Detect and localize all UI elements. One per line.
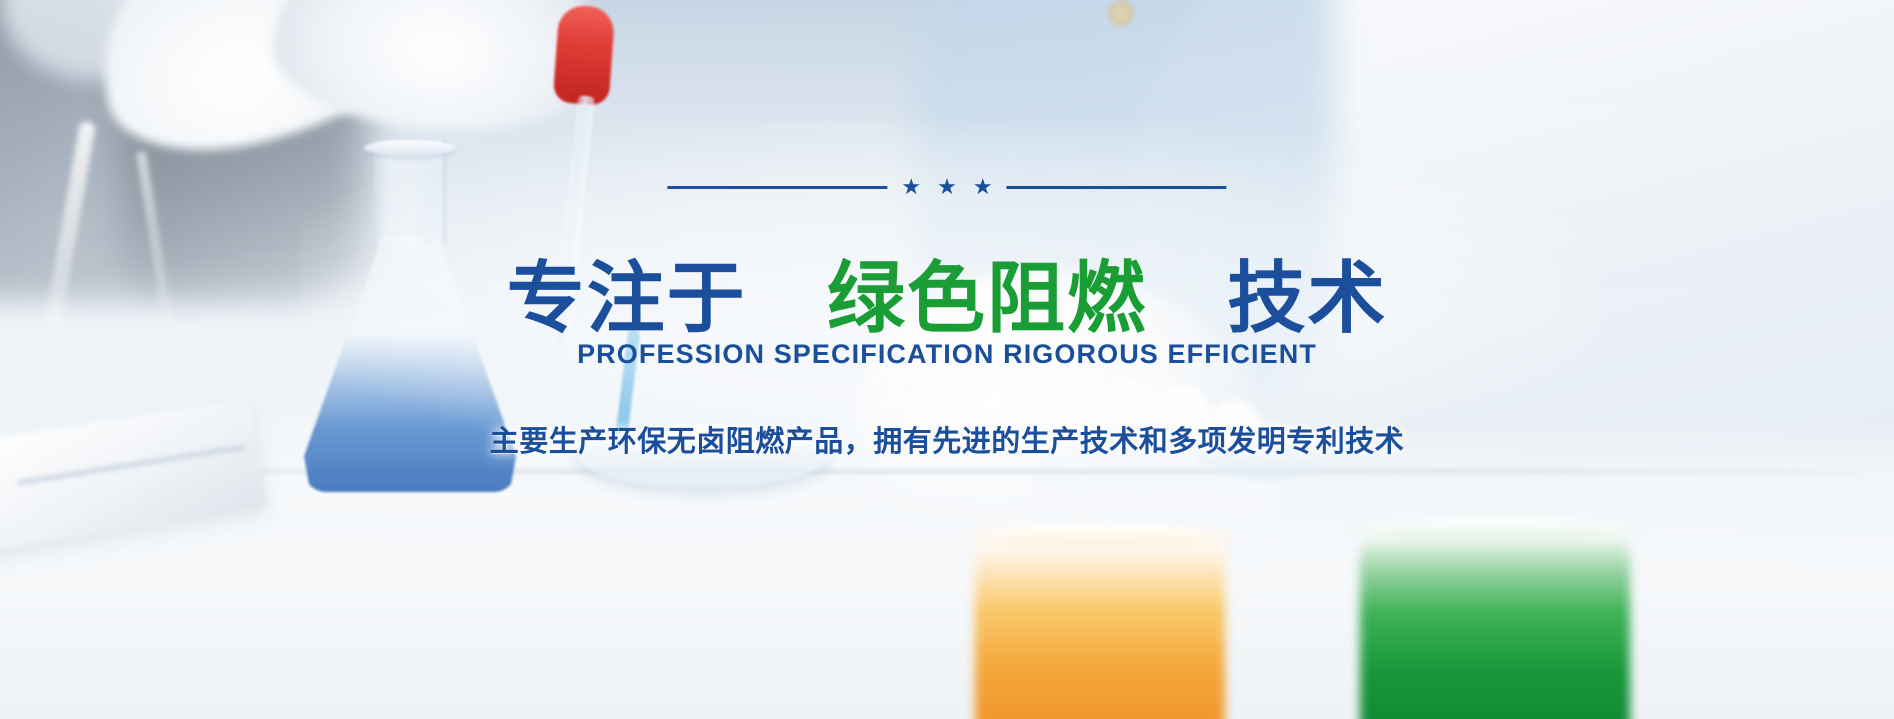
headline-part-2: 绿色阻燃 [827,254,1147,344]
headline-part-1: 专注于 [507,254,747,344]
headline-part-3: 技术 [1227,254,1387,344]
star-icon: ★ [973,176,993,198]
page-title: 专注于 绿色阻燃 技术 [507,258,1388,341]
subtitle-english: PROFESSION SPECIFICATION RIGOROUS EFFICI… [577,339,1317,370]
star-group: ★ ★ ★ [901,176,992,198]
description-text: 主要生产环保无卤阻燃产品，拥有先进的生产技术和多项发明专利技术 [490,418,1405,460]
hero-banner: ★ ★ ★ 专注于 绿色阻燃 技术 PROFESSION SPECIFICATI… [0,0,1894,719]
divider-line-right [1007,186,1227,189]
divider-line-left [667,186,887,189]
star-icon: ★ [901,176,921,198]
banner-content: ★ ★ ★ 专注于 绿色阻燃 技术 PROFESSION SPECIFICATI… [0,0,1894,719]
star-icon: ★ [937,176,957,198]
decorative-divider: ★ ★ ★ [667,176,1226,198]
